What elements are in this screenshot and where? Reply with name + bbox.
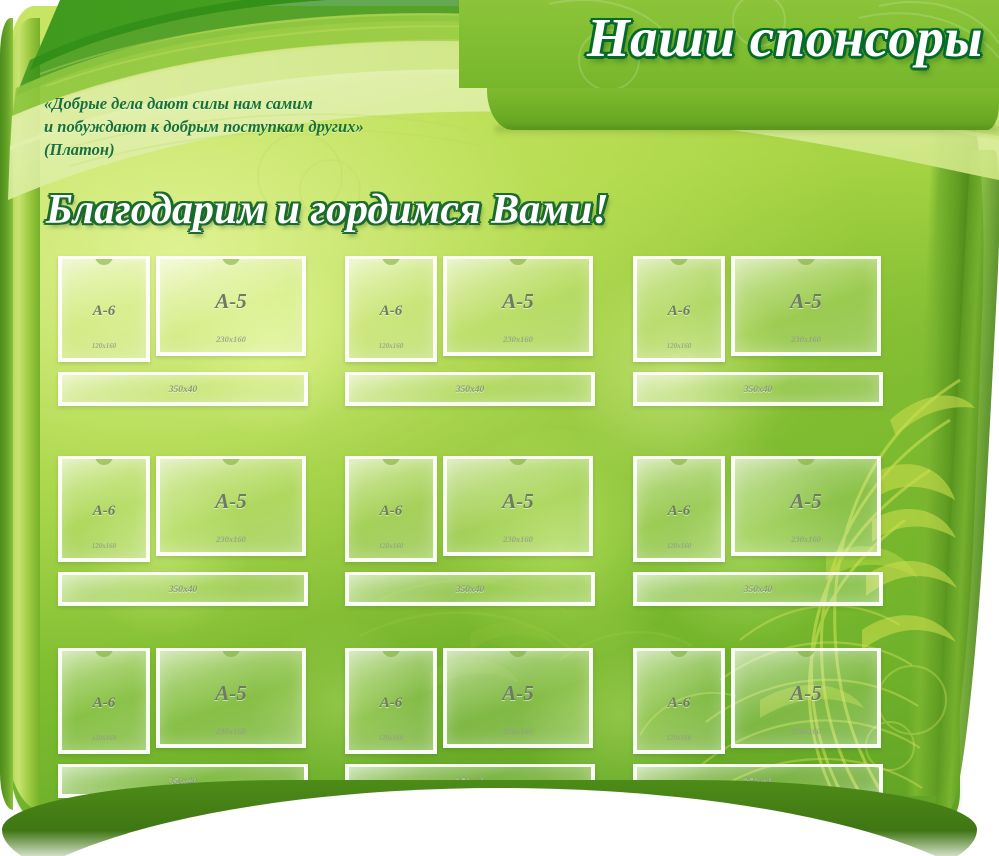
pocket-strip[interactable]: 350x40 [345,572,595,606]
pocket-strip[interactable]: 350x40 [58,372,308,406]
pocket-size-label: 120x160 [62,734,146,742]
pocket-strip[interactable]: 350x40 [58,572,308,606]
pocket-notch-icon [382,456,400,465]
pocket-format-label: А-5 [447,489,589,514]
pocket-format-label: А-5 [735,289,877,314]
pocket-size-label: 120x160 [637,734,721,742]
pocket-notch-icon [509,648,527,657]
pocket-size-label: 120x160 [349,734,433,742]
pocket-a5[interactable]: А-5 230x160 [443,456,593,556]
pocket-size-label: 230x160 [735,334,877,344]
pocket-size-label: 350x40 [637,385,879,395]
pocket-notch-icon [670,648,688,657]
pocket-format-label: А-6 [62,695,146,712]
pocket-notch-icon [797,256,815,265]
pocket-notch-icon [95,648,113,657]
pocket-format-label: А-6 [637,303,721,320]
pocket-format-label: А-6 [637,695,721,712]
pocket-notch-icon [382,256,400,265]
pocket-size-label: 120x160 [637,342,721,350]
pocket-notch-icon [222,256,240,265]
pocket-a6[interactable]: А-6 120x160 [58,648,150,754]
pocket-format-label: А-6 [349,695,433,712]
pocket-a5[interactable]: А-5 230x160 [731,256,881,356]
pocket-size-label: 350x40 [637,585,879,595]
pocket-format-label: А-5 [160,489,302,514]
pocket-size-label: 230x160 [447,726,589,736]
pocket-size-label: 350x40 [349,385,591,395]
pocket-format-label: А-5 [447,289,589,314]
pocket-a6[interactable]: А-6 120x160 [58,456,150,562]
pocket-strip[interactable]: 350x40 [633,572,883,606]
pocket-size-label: 230x160 [447,534,589,544]
pocket-format-label: А-6 [637,503,721,520]
pocket-strip[interactable]: 350x40 [345,372,595,406]
pocket-a5[interactable]: А-5 230x160 [443,648,593,748]
pocket-a6[interactable]: А-6 120x160 [345,456,437,562]
pocket-a6[interactable]: А-6 120x160 [633,648,725,754]
pocket-size-label: 350x40 [349,585,591,595]
pocket-format-label: А-6 [349,503,433,520]
pocket-format-label: А-5 [735,681,877,706]
pocket-size-label: 230x160 [160,334,302,344]
pocket-size-label: 120x160 [349,542,433,550]
pocket-size-label: 120x160 [62,342,146,350]
pocket-size-label: 230x160 [735,534,877,544]
pocket-format-label: А-5 [735,489,877,514]
pocket-size-label: 120x160 [349,342,433,350]
pocket-strip[interactable]: 350x40 [633,372,883,406]
pocket-a5[interactable]: А-5 230x160 [731,648,881,748]
pocket-size-label: 350x40 [62,385,304,395]
pocket-format-label: А-6 [349,303,433,320]
pocket-notch-icon [382,648,400,657]
pocket-a6[interactable]: А-6 120x160 [58,256,150,362]
pocket-size-label: 350x40 [62,585,304,595]
pocket-format-label: А-6 [62,303,146,320]
pocket-size-label: 230x160 [160,726,302,736]
pocket-notch-icon [797,648,815,657]
pocket-a6[interactable]: А-6 120x160 [633,256,725,362]
pocket-notch-icon [797,456,815,465]
pocket-format-label: А-6 [62,503,146,520]
pocket-a6[interactable]: А-6 120x160 [345,256,437,362]
pocket-size-label: 230x160 [160,534,302,544]
pocket-grid: А-6 120x160 А-5 230x160 350x40 А-6 120x1… [0,0,999,856]
pocket-a5[interactable]: А-5 230x160 [443,256,593,356]
pocket-size-label: 120x160 [62,542,146,550]
pocket-notch-icon [670,256,688,265]
pocket-a5[interactable]: А-5 230x160 [731,456,881,556]
pocket-a5[interactable]: А-5 230x160 [156,456,306,556]
pocket-format-label: А-5 [160,681,302,706]
pocket-notch-icon [509,256,527,265]
pocket-notch-icon [95,456,113,465]
pocket-notch-icon [509,456,527,465]
pocket-size-label: 230x160 [447,334,589,344]
pocket-notch-icon [222,648,240,657]
pocket-format-label: А-5 [447,681,589,706]
pocket-a5[interactable]: А-5 230x160 [156,256,306,356]
pocket-notch-icon [670,456,688,465]
sponsor-board-stand: Наши спонсоры «Добрые дела дают силы нам… [0,0,999,856]
pocket-size-label: 120x160 [637,542,721,550]
pocket-format-label: А-5 [160,289,302,314]
pocket-size-label: 230x160 [735,726,877,736]
pocket-notch-icon [95,256,113,265]
pocket-a5[interactable]: А-5 230x160 [156,648,306,748]
pocket-a6[interactable]: А-6 120x160 [345,648,437,754]
pocket-a6[interactable]: А-6 120x160 [633,456,725,562]
pocket-notch-icon [222,456,240,465]
